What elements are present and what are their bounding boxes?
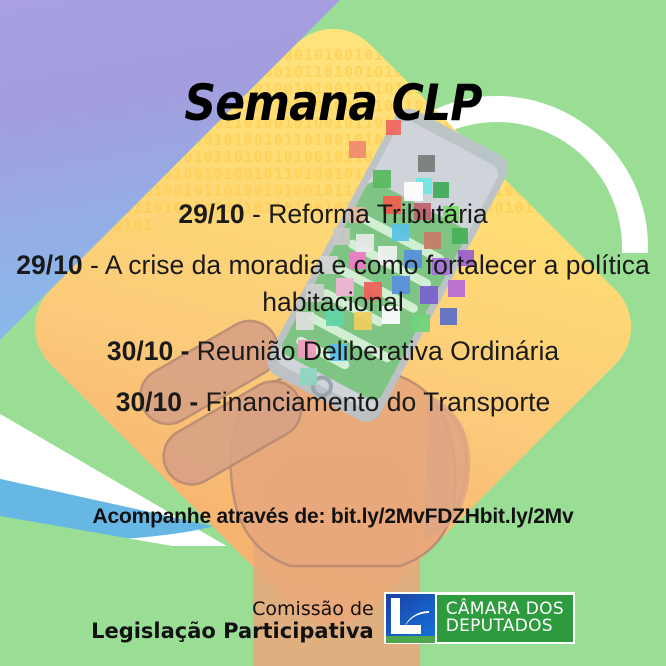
list-item: 29/10 - A crise da moradia e como fortal…	[8, 247, 658, 321]
event-date: 29/10	[16, 250, 82, 280]
event-text: Reforma Tributária	[268, 199, 487, 229]
schedule-list: 29/10 - Reforma Tributária 29/10 - A cri…	[8, 196, 658, 421]
camara-logo-line-2: DEPUTADOS	[446, 618, 564, 635]
camara-dos-deputados-logo: CÂMARA DOS DEPUTADOS	[384, 592, 575, 644]
commission-name: Comissão de Legislação Participativa	[91, 599, 374, 644]
event-separator: -	[245, 199, 269, 229]
list-item: 29/10 - Reforma Tributária	[8, 196, 658, 233]
event-separator	[189, 336, 196, 366]
page-title: Semana CLP	[40, 74, 626, 132]
event-text: A crise da moradia e como fortalecer a p…	[105, 250, 650, 317]
list-item: 30/10 - Financiamento do Transporte	[8, 384, 658, 421]
event-date: 30/10 -	[116, 387, 199, 417]
call-to-action-link[interactable]: Acompanhe através de: bit.ly/2MvFDZHbit.…	[0, 505, 666, 529]
event-text: Reunião Deliberativa Ordinária	[197, 336, 559, 366]
list-item: 30/10 - Reunião Deliberativa Ordinária	[8, 333, 658, 370]
commission-line-2: Legislação Participativa	[91, 620, 374, 644]
poster-canvas: 0100101011010010100101101001010010110100…	[0, 0, 666, 666]
camara-emblem-icon	[384, 592, 437, 644]
event-date: 30/10 -	[107, 336, 190, 366]
footer: Comissão de Legislação Participativa CÂM…	[0, 592, 666, 644]
event-date: 29/10	[178, 199, 244, 229]
commission-line-1: Comissão de	[91, 599, 374, 620]
event-text: Financiamento do Transporte	[206, 387, 551, 417]
camara-logo-text: CÂMARA DOS DEPUTADOS	[437, 592, 575, 644]
event-separator: -	[83, 250, 105, 280]
event-separator	[198, 387, 205, 417]
